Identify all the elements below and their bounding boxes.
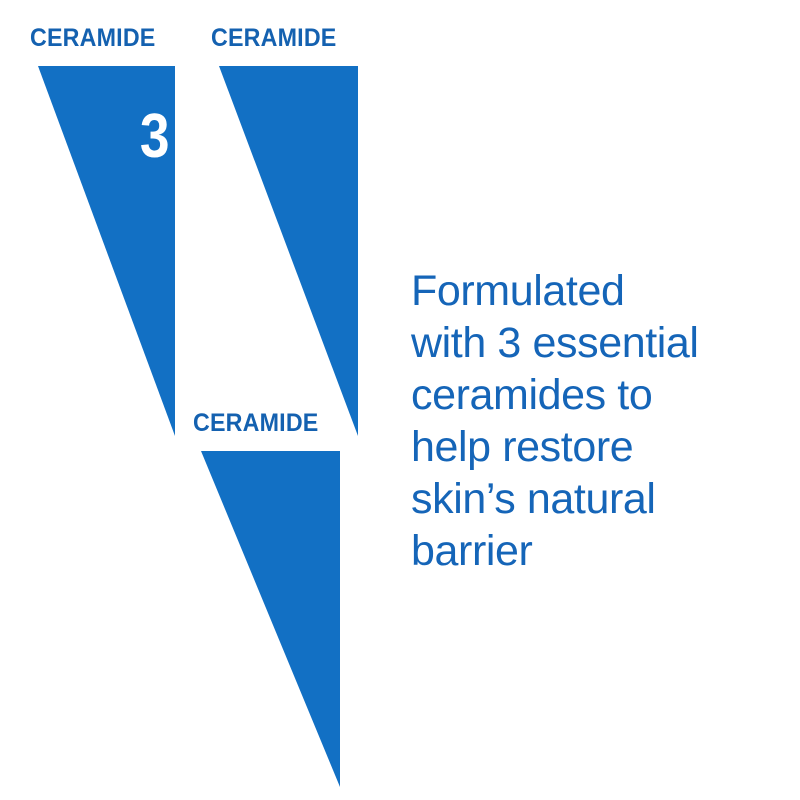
copy-line: skin’s natural bbox=[411, 473, 771, 525]
ceramide-3-label: CERAMIDE bbox=[211, 26, 336, 51]
infographic-canvas: CERAMIDE 1 CERAMIDE 3 CERAMIDE 6-II Form… bbox=[0, 0, 800, 800]
marketing-copy: Formulated with 3 essential ceramides to… bbox=[411, 265, 771, 577]
ceramide-3-number: 3 bbox=[139, 106, 169, 168]
copy-line: Formulated bbox=[411, 265, 771, 317]
copy-line: ceramides to bbox=[411, 369, 771, 421]
copy-line: barrier bbox=[411, 525, 771, 577]
copy-line: with 3 essential bbox=[411, 317, 771, 369]
copy-line: help restore bbox=[411, 421, 771, 473]
ceramide-3-wedge-shape bbox=[211, 66, 363, 436]
ceramide-6ii-wedge-shape bbox=[193, 451, 345, 787]
ceramide-6ii-number: 6-II bbox=[98, 489, 173, 551]
ceramide-6ii-label: CERAMIDE bbox=[193, 411, 318, 436]
ceramide-1-label: CERAMIDE bbox=[30, 26, 155, 51]
